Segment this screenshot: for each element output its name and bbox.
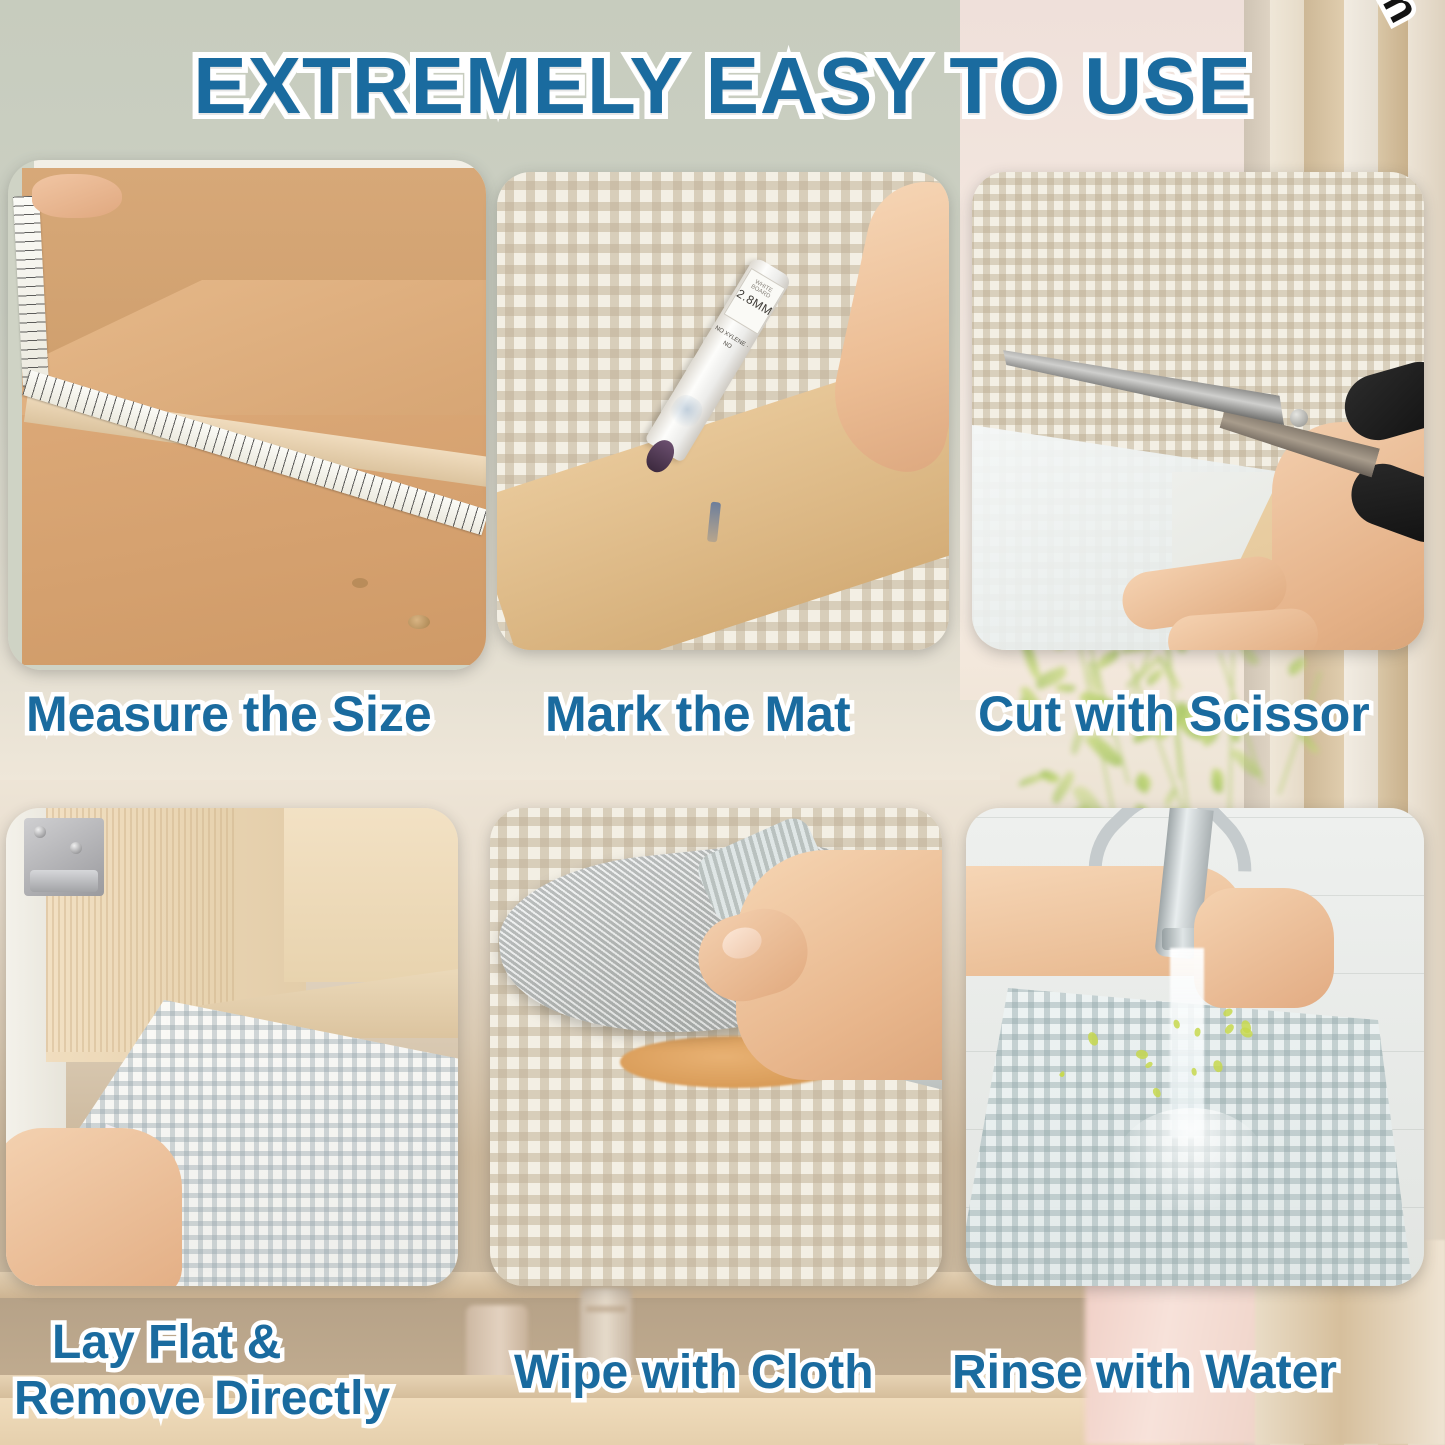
step-photo-lay-flat — [6, 808, 458, 1286]
plant-leaf — [1095, 648, 1123, 670]
scissor-pivot — [1290, 409, 1308, 427]
food-crumb — [1059, 1073, 1065, 1077]
hand-holding-tape — [32, 174, 122, 218]
caption-cut: Cut with Scissor — [978, 688, 1370, 740]
hand-lifting-liner — [6, 1128, 182, 1286]
plant-leaf — [1285, 656, 1309, 677]
caption-mark: Mark the Mat — [545, 688, 851, 740]
plant-leaf — [1039, 768, 1060, 786]
caption-rinse: Rinse with Water — [952, 1348, 1337, 1398]
caption-wipe: Wipe with Cloth — [514, 1348, 874, 1398]
caption-measure: Measure the Size — [26, 688, 432, 740]
step-photo-wipe — [490, 808, 942, 1286]
water-splash — [1116, 1108, 1266, 1218]
step-photo-cut — [972, 172, 1424, 650]
marker-label-side-1: NO XYLENE · NO — [707, 324, 751, 360]
plant-leaf — [1210, 768, 1224, 792]
caption-lay-flat-line2: Remove Directly — [14, 1374, 390, 1424]
step-photo-mark: WHITE BOARD 2.8MM NO XYLENE · NO — [497, 172, 949, 650]
hand-holding-liner — [1194, 888, 1334, 1008]
plant-leaf — [1132, 772, 1154, 794]
plant-leaf — [1229, 745, 1262, 780]
infographic-canvas: EXTREMELY EASY TO USE Hersvin WHITE — [0, 0, 1445, 1445]
step-photo-measure — [8, 160, 486, 670]
cabinet-hinge — [24, 818, 104, 896]
page-title: EXTREMELY EASY TO USE — [0, 46, 1445, 126]
step-photo-rinse — [966, 808, 1424, 1286]
caption-lay-flat-line1: Lay Flat & — [52, 1318, 281, 1368]
